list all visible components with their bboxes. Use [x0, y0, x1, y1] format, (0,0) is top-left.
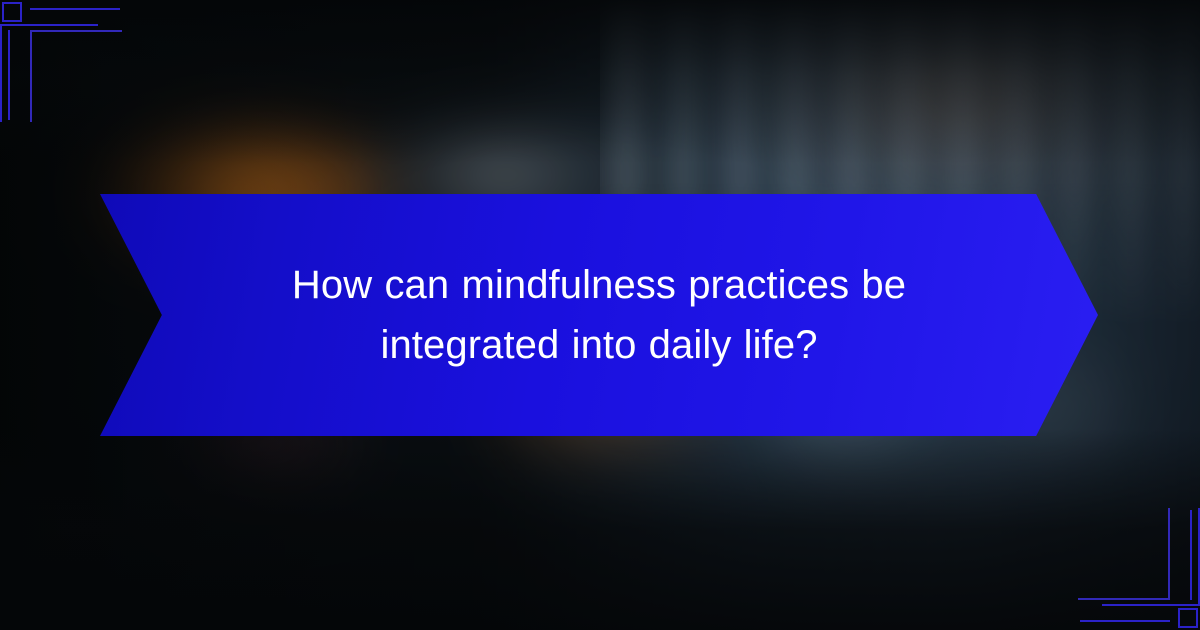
question-ribbon: How can mindfulness practices be integra… [100, 194, 1098, 436]
corner-square-icon [2, 2, 22, 22]
corner-bracket-inner [1078, 508, 1170, 600]
corner-bracket-top-left [0, 0, 120, 120]
question-line-1: How can mindfulness practices be [292, 263, 906, 307]
question-line-2: integrated into daily life? [380, 323, 817, 367]
corner-horizontal-line [30, 8, 120, 10]
question-text: How can mindfulness practices be integra… [249, 255, 949, 375]
corner-bracket-inner [30, 30, 122, 122]
corner-horizontal-line [1080, 620, 1170, 622]
banner-canvas: How can mindfulness practices be integra… [0, 0, 1200, 630]
corner-bracket-bottom-right [1080, 510, 1200, 630]
corner-square-icon [1178, 608, 1198, 628]
